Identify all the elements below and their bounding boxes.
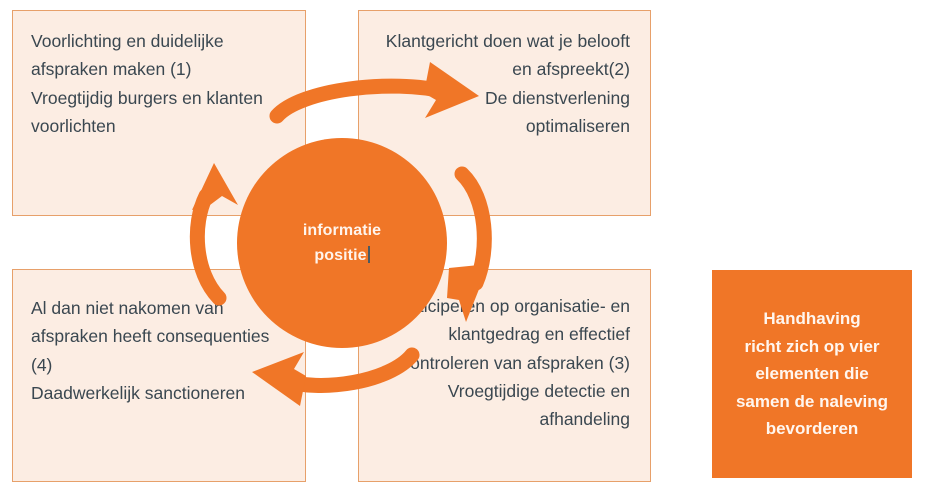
diagram-canvas: Voorlichting en duidelijke afspraken mak… <box>0 0 945 501</box>
hub-label-line1: informatie <box>303 218 381 243</box>
callout-panel[interactable]: Handhaving richt zich op vier elementen … <box>712 270 912 478</box>
hub-label-line2: positie <box>314 243 369 268</box>
hub-circle[interactable]: informatie positie <box>237 138 447 348</box>
callout-text: Handhaving richt zich op vier elementen … <box>728 305 896 443</box>
text-cursor-caret <box>368 246 370 263</box>
hub-label-line2-text: positie <box>314 247 366 264</box>
